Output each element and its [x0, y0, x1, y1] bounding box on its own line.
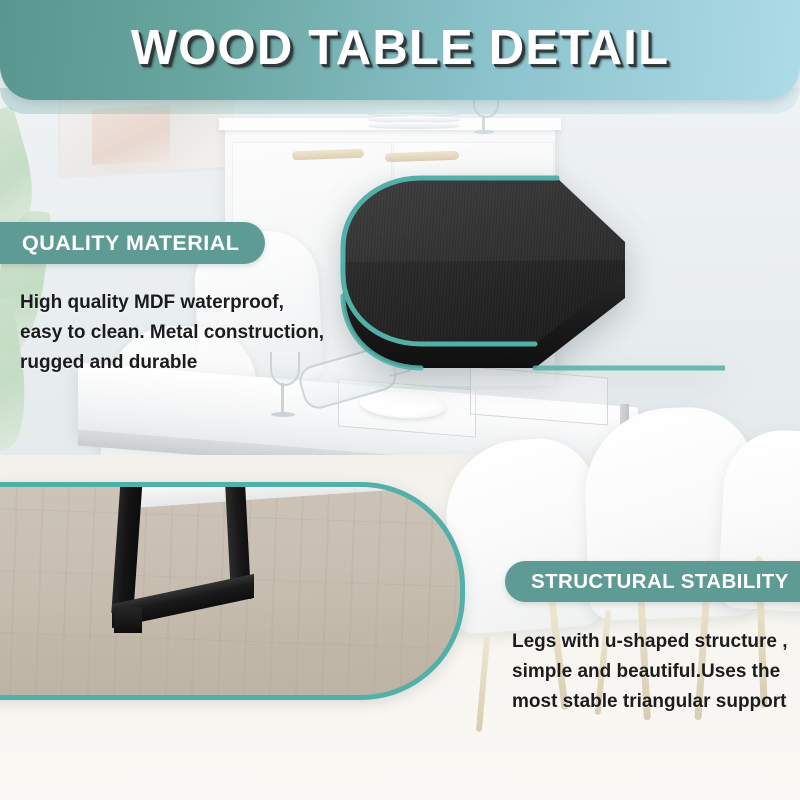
- wine-glass-foot: [271, 412, 295, 417]
- feature-label-structural-stability: STRUCTURAL STABILITY: [505, 561, 800, 602]
- infographic-canvas: WOOD TABLE DETAIL QUALITY MATERIAL High …: [0, 0, 800, 800]
- feature-label-text: STRUCTURAL STABILITY: [531, 570, 789, 594]
- feature-label-text: QUALITY MATERIAL: [22, 231, 239, 256]
- page-title: WOOD TABLE DETAIL: [131, 20, 669, 76]
- leg-vertical-left: [111, 482, 142, 613]
- leg-foot-corner: [114, 607, 142, 633]
- header-banner: WOOD TABLE DETAIL: [0, 0, 800, 100]
- wine-glass-stem: [281, 383, 284, 413]
- goblet-stem: [482, 115, 485, 130]
- black-tabletop-hero-image: [325, 170, 725, 395]
- feature-body-structural-stability: Legs with u-shaped structure , simple an…: [512, 627, 800, 717]
- table-leg-detail-panel: [0, 482, 465, 700]
- feature-label-quality-material: QUALITY MATERIAL: [0, 222, 265, 264]
- feature-body-quality-material: High quality MDF waterproof, easy to cle…: [20, 288, 350, 378]
- body-line: most stable triangular support: [512, 687, 800, 717]
- body-line: simple and beautiful.Uses the: [512, 657, 800, 687]
- body-line: rugged and durable: [20, 348, 350, 378]
- plate: [368, 122, 460, 128]
- body-line: High quality MDF waterproof,: [20, 288, 350, 318]
- white-chair: [442, 435, 605, 635]
- u-shaped-metal-leg: [0, 487, 460, 695]
- goblet-foot: [474, 130, 494, 134]
- body-line: easy to clean. Metal construction,: [20, 318, 350, 348]
- body-line: Legs with u-shaped structure ,: [512, 627, 800, 657]
- plant-leaves: [0, 100, 73, 430]
